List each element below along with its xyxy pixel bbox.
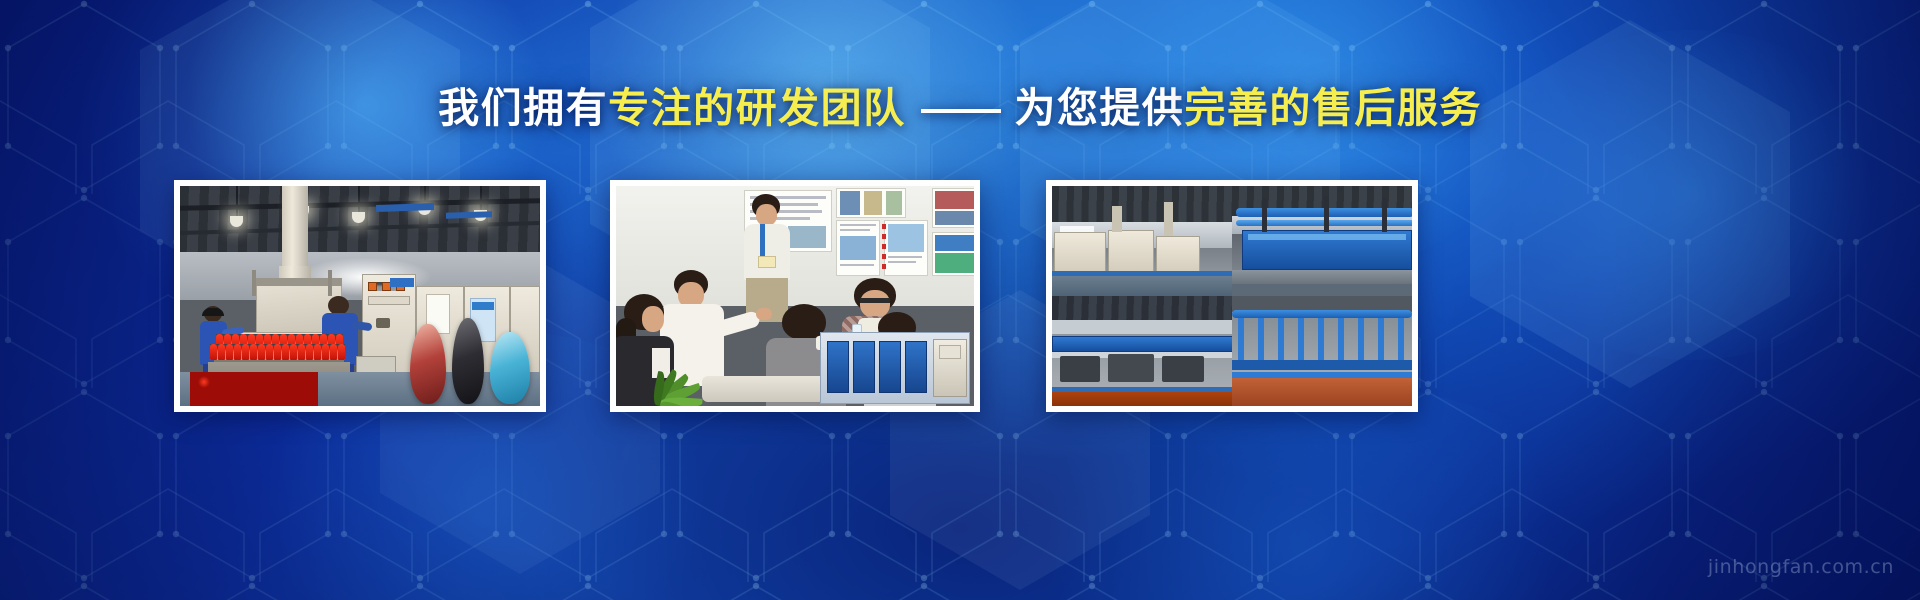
- headline-segment-4: 完善的售后服务: [1184, 85, 1482, 131]
- banner-headline: 我们拥有专注的研发团队 —— 为您提供完善的售后服务: [0, 80, 1920, 136]
- photo-gallery: [0, 180, 1920, 412]
- photo-team-meeting: [616, 186, 974, 406]
- promo-banner: 我们拥有专注的研发团队 —— 为您提供完善的售后服务: [0, 0, 1920, 600]
- photo-equipment-collage: [1052, 186, 1412, 406]
- photo-factory-line: [180, 186, 540, 406]
- headline-segment-1: 我们拥有: [438, 85, 608, 131]
- headline-segment-3: 为您提供: [1014, 85, 1184, 131]
- gallery-card-factory-line[interactable]: [174, 180, 546, 412]
- gallery-card-equipment-collage[interactable]: [1046, 180, 1418, 412]
- site-watermark: jinhongfan.com.cn: [1708, 556, 1894, 578]
- gallery-card-team-meeting[interactable]: [610, 180, 980, 412]
- headline-segment-2: 专注的研发团队: [608, 85, 906, 131]
- headline-separator: ——: [906, 85, 1015, 131]
